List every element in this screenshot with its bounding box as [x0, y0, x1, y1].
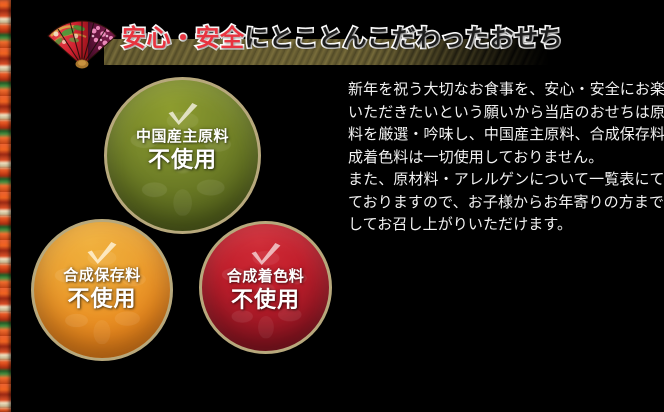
badge-text-block: 合成着色料 不使用 [227, 267, 305, 313]
badge-text-block: 合成保存料 不使用 [63, 266, 141, 312]
description-line: いただきたいという願いから当店のおせちは原材 [348, 101, 664, 124]
badge-line-1: 中国産主原料 [136, 127, 229, 146]
badge-china-main-ingredients: 中国産主原料 不使用 [104, 77, 261, 234]
badge-text-block: 中国産主原料 不使用 [136, 127, 229, 173]
check-mark-icon [249, 241, 283, 267]
badge-line-1: 合成着色料 [227, 267, 305, 286]
badge-line-2: 不使用 [63, 286, 141, 312]
check-mark-icon [85, 240, 119, 266]
badge-synthetic-preservatives: 合成保存料 不使用 [31, 219, 173, 361]
description-line: ておりますので、お子様からお年寄りの方まで安心 [348, 191, 664, 214]
title-rest: にとことんこだわったおせち [245, 23, 564, 52]
description-text: 新年を祝う大切なお食事を、安心・安全にお楽しみ いただきたいという願いから当店の… [348, 78, 664, 236]
description-line: 料を厳選・吟味し、中国産主原料、合成保存料、合 [348, 123, 664, 146]
badge-synthetic-colorants: 合成着色料 不使用 [199, 221, 332, 354]
badge-line-2: 不使用 [136, 147, 229, 173]
description-line: 成着色料は一切使用しておりません。 [348, 146, 664, 169]
description-line: 新年を祝う大切なお食事を、安心・安全にお楽しみ [348, 78, 664, 101]
badge-line-2: 不使用 [227, 287, 305, 313]
description-line: また、原材料・アレルゲンについて一覧表にて明記し [348, 168, 664, 191]
banner-header: 安心・安全にとことんこだわったおせち [0, 0, 664, 78]
japanese-folding-fan-icon [44, 14, 120, 70]
description-line: してお召し上がりいただけます。 [348, 213, 664, 236]
check-mark-icon [166, 101, 200, 127]
page-title: 安心・安全にとことんこだわったおせち [122, 21, 563, 55]
badge-line-1: 合成保存料 [63, 266, 141, 285]
title-accent: 安心・安全 [122, 23, 245, 52]
promo-banner: 安心・安全にとことんこだわったおせち 中国産主原料 不使用 合成保存料 不使用 … [0, 0, 664, 412]
